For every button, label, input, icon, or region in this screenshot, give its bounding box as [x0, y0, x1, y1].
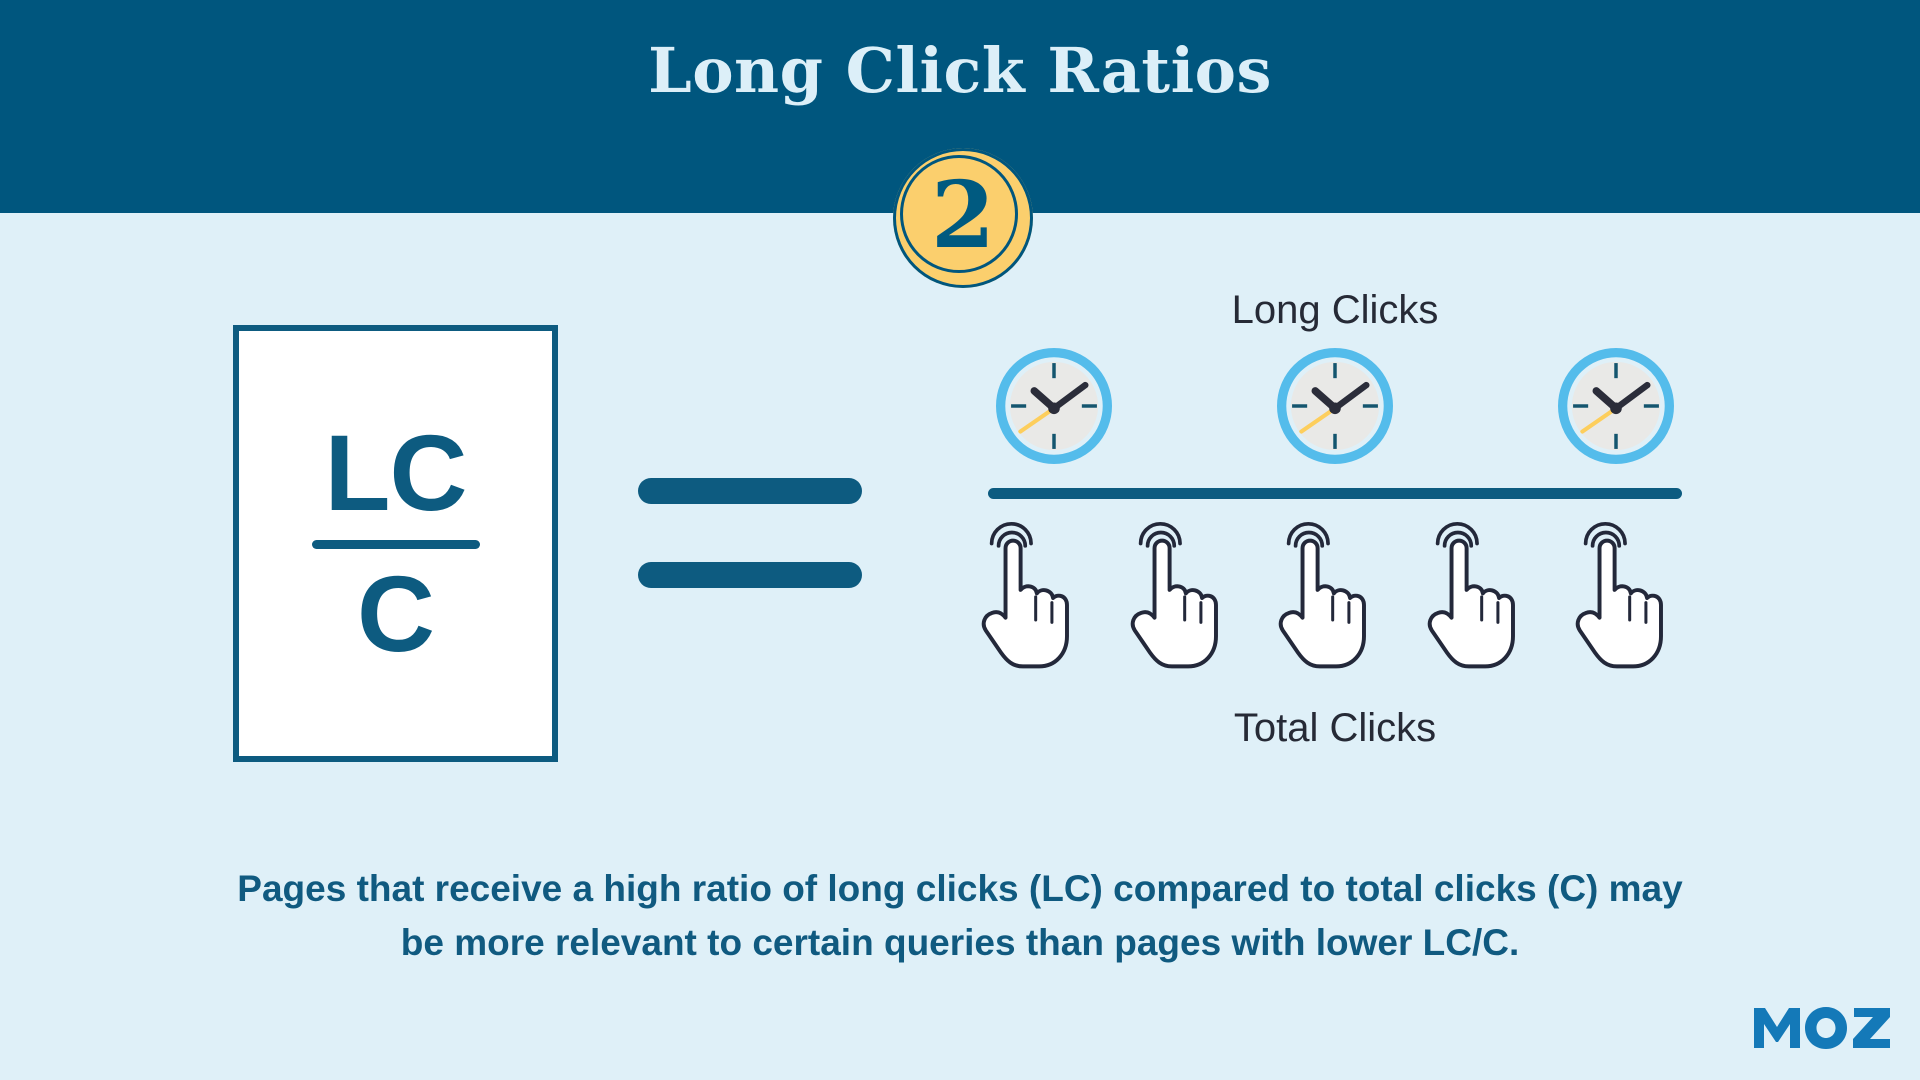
- step-number-badge: 2: [893, 148, 1033, 288]
- total-clicks-label: Total Clicks: [980, 708, 1690, 748]
- formula-denominator: C: [357, 559, 434, 669]
- click-hand-icon: [1574, 518, 1690, 678]
- formula-fraction-bar: [312, 540, 480, 549]
- click-hand-row: [980, 518, 1690, 688]
- clock-icon: [1277, 348, 1393, 464]
- caption-line-2: be more relevant to certain queries than…: [180, 916, 1740, 970]
- equals-sign-icon: [638, 478, 862, 588]
- infographic-canvas: Long Click Ratios 2 LC C Long Clicks: [0, 0, 1920, 1080]
- visual-fraction-bar: [988, 488, 1682, 499]
- equals-bar-top: [638, 478, 862, 504]
- clock-icon: [1558, 348, 1674, 464]
- clock-row: [996, 345, 1674, 467]
- formula-card: LC C: [233, 325, 558, 762]
- formula-numerator: LC: [325, 418, 467, 528]
- click-hand-icon: [1426, 518, 1542, 678]
- caption-block: Pages that receive a high ratio of long …: [180, 862, 1740, 969]
- equals-bar-bottom: [638, 562, 862, 588]
- click-hand-icon: [980, 518, 1096, 678]
- clock-icon: [996, 348, 1112, 464]
- long-clicks-label: Long Clicks: [980, 290, 1690, 330]
- visual-fraction: Long Clicks: [980, 290, 1690, 750]
- page-title: Long Click Ratios: [0, 40, 1920, 102]
- click-hand-icon: [1277, 518, 1393, 678]
- badge-step-number: 2: [893, 148, 1033, 288]
- click-hand-icon: [1129, 518, 1245, 678]
- caption-line-1: Pages that receive a high ratio of long …: [180, 862, 1740, 916]
- moz-logo: [1752, 1004, 1892, 1050]
